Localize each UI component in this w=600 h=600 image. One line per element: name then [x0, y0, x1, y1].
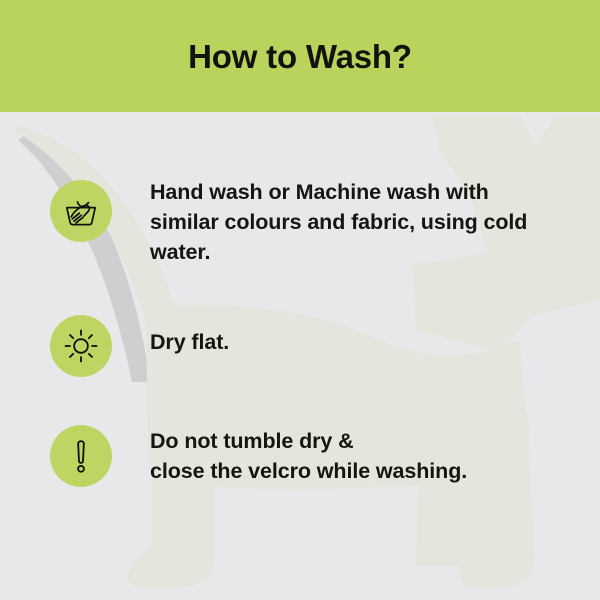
header-band: How to Wash?: [0, 0, 600, 112]
instruction-row-dry-flat: Dry flat.: [50, 313, 560, 377]
exclamation-icon-badge: [50, 425, 112, 487]
sun-icon-badge: [50, 315, 112, 377]
hand-wash-icon: [61, 191, 101, 231]
sun-icon: [61, 326, 101, 366]
instruction-list: Hand wash or Machine wash with similar c…: [0, 112, 600, 600]
instruction-row-warning: Do not tumble dry & close the velcro whi…: [50, 423, 560, 487]
hand-wash-icon-badge: [50, 180, 112, 242]
instruction-row-hand-wash: Hand wash or Machine wash with similar c…: [50, 178, 560, 268]
page-title: How to Wash?: [178, 40, 422, 73]
instruction-text-dry-flat: Dry flat.: [150, 328, 229, 358]
instruction-text-hand-wash: Hand wash or Machine wash with similar c…: [150, 178, 527, 268]
instruction-text-warning: Do not tumble dry & close the velcro whi…: [150, 427, 467, 487]
how-to-wash-card: How to Wash?: [0, 0, 600, 600]
exclamation-icon: [61, 436, 101, 476]
